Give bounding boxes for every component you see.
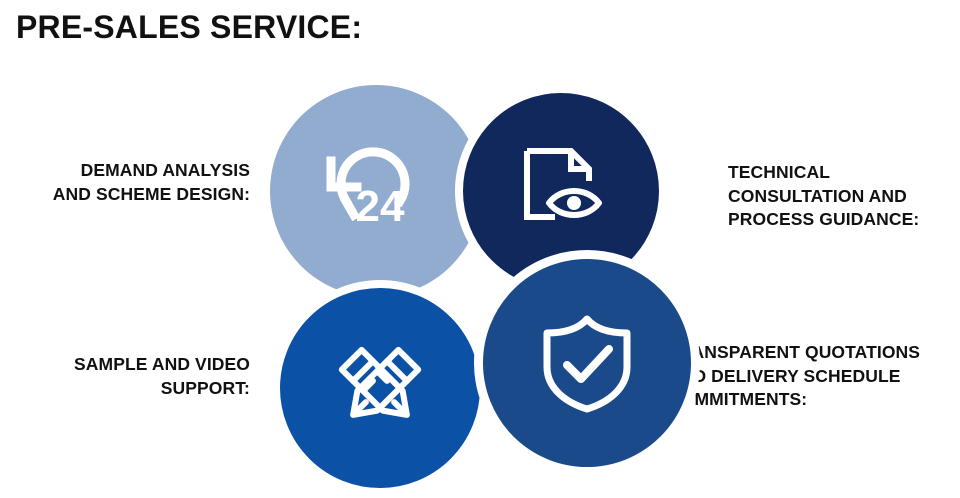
circle-sample-video-support[interactable] <box>272 280 488 496</box>
label-sample-video-support-line1: SAMPLE AND VIDEO <box>0 353 250 377</box>
circle-cluster: 24 <box>268 80 692 492</box>
clock-24-rotate-icon: 24 <box>324 139 428 243</box>
label-transparent-quotations: TRANSPARENT QUOTATIONS AND DELIVERY SCHE… <box>668 341 960 412</box>
label-transparent-quotations-line3: COMMITMENTS: <box>668 388 960 412</box>
label-sample-video-support-line2: SUPPORT: <box>0 377 250 401</box>
crossed-pens-icon <box>326 334 434 442</box>
label-technical-consultation-line1: TECHNICAL <box>728 161 958 185</box>
document-eye-icon <box>511 141 611 241</box>
label-demand-analysis-line2: AND SCHEME DESIGN: <box>0 183 250 207</box>
label-sample-video-support: SAMPLE AND VIDEO SUPPORT: <box>0 353 250 400</box>
label-technical-consultation-line3: PROCESS GUIDANCE: <box>728 208 958 232</box>
clock-24-label: 24 <box>356 182 405 231</box>
label-demand-analysis-line1: DEMAND ANALYSIS <box>0 159 250 183</box>
page-title: PRE-SALES SERVICE: <box>16 9 362 46</box>
label-transparent-quotations-line1: TRANSPARENT QUOTATIONS <box>668 341 960 365</box>
circle-demand-analysis[interactable]: 24 <box>270 85 482 297</box>
shield-check-icon <box>535 311 639 415</box>
label-technical-consultation: TECHNICAL CONSULTATION AND PROCESS GUIDA… <box>728 161 958 232</box>
circle-transparent-quotations[interactable] <box>474 250 700 476</box>
infographic-page: PRE-SALES SERVICE: DEMAND ANALYSIS AND S… <box>0 0 960 498</box>
label-demand-analysis: DEMAND ANALYSIS AND SCHEME DESIGN: <box>0 159 250 206</box>
label-transparent-quotations-line2: AND DELIVERY SCHEDULE <box>668 365 960 389</box>
label-technical-consultation-line2: CONSULTATION AND <box>728 185 958 209</box>
